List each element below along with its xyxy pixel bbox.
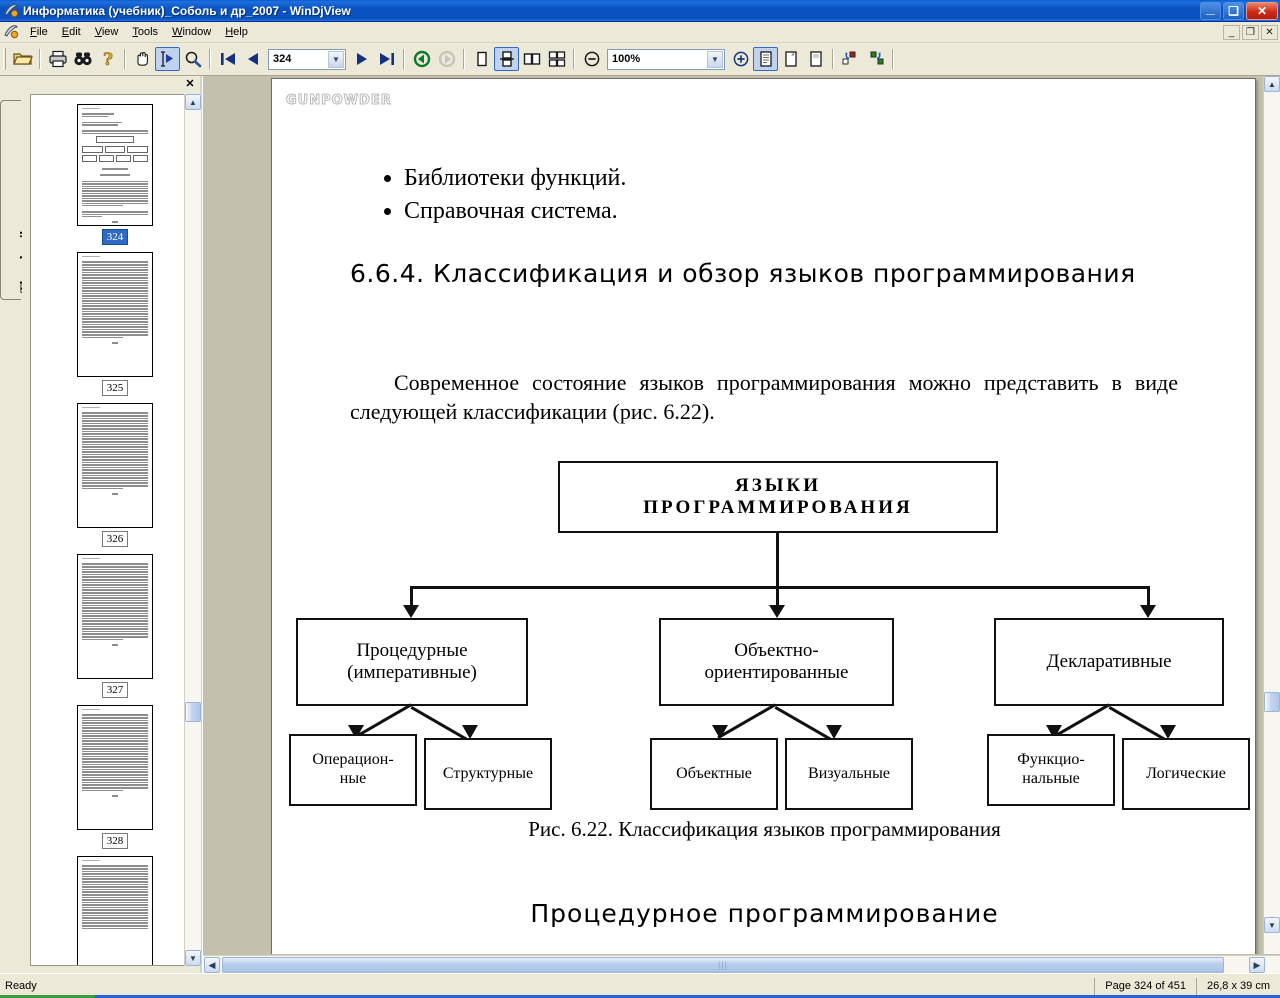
next-page-icon[interactable] [349, 47, 374, 71]
magnify-tool-icon[interactable] [180, 47, 205, 71]
toolbar-grip[interactable] [3, 48, 6, 70]
toolbar: ? 324 ▼ [0, 43, 1280, 76]
child-minimize-button[interactable]: _ [1223, 25, 1240, 40]
close-glyph: ✕ [1247, 3, 1277, 19]
figure-caption: Рис. 6.22. Классификация языков программ… [272, 817, 1257, 842]
close-icon[interactable]: ✕ [183, 78, 197, 92]
menu-item-window[interactable]: Window [165, 24, 218, 40]
minimize-glyph: _ [1201, 3, 1220, 19]
fit-page-icon[interactable] [753, 47, 778, 71]
scroll-down-icon[interactable]: ▼ [185, 950, 201, 966]
diagram-node-functional: Функцио- нальные [987, 734, 1115, 806]
diagram-node-structural: Структурные [424, 738, 552, 810]
chevron-down-icon[interactable]: ▼ [328, 51, 344, 68]
node-label-line1: Декларативные [1046, 651, 1171, 673]
diagram-node-declarative: Декларативные [994, 618, 1224, 706]
thumbnail-image[interactable] [77, 554, 153, 679]
previous-page-icon[interactable] [240, 47, 265, 71]
scroll-right-icon[interactable]: ▶ [1249, 957, 1265, 973]
rotate-right-icon[interactable] [863, 47, 888, 71]
document-horizontal-scrollbar[interactable]: ◀ ||| ▶ [203, 955, 1280, 973]
continuous-facing-icon[interactable] [544, 47, 569, 71]
page-info: Page 324 of 451 [1094, 978, 1196, 995]
node-label-line2: ные [340, 770, 366, 789]
menu-item-view[interactable]: View [88, 24, 126, 40]
find-icon[interactable] [70, 47, 95, 71]
app-icon [3, 3, 19, 19]
node-label-line1: Процедурные [356, 640, 467, 662]
arrowhead-down-center [769, 605, 785, 618]
continuous-icon[interactable] [494, 47, 519, 71]
page-number-value[interactable]: 324 [269, 53, 325, 65]
document-vertical-scrollbar[interactable]: ▲ ▼ [1263, 76, 1280, 954]
node-label-line1: Функцио- [1017, 751, 1084, 770]
thumbnail-image[interactable] [77, 104, 153, 226]
first-page-icon[interactable] [215, 47, 240, 71]
thumbnail-page-number[interactable]: 326 [102, 531, 129, 547]
node-label-line1: Объектно- [734, 640, 818, 662]
thumbnail-list[interactable]: 324 325 [30, 94, 200, 966]
zoom-level-value[interactable]: 100% [608, 53, 704, 65]
diagram-node-procedural: Процедурные (императивные) [296, 618, 528, 706]
connector-proc-to-struct [411, 706, 470, 742]
scrollbar-thumb[interactable] [1264, 692, 1280, 712]
document-viewport[interactable]: GUNPOWDER Библиотеки функций. Справочная… [205, 76, 1262, 954]
node-label-line2: ориентированные [705, 662, 849, 684]
next-section-heading: Процедурное программирование [272, 899, 1257, 928]
select-tool-icon[interactable] [155, 47, 180, 71]
document-icon [3, 24, 19, 40]
window-close-button[interactable]: ✕ [1246, 2, 1278, 20]
thumbnail-figure [82, 135, 148, 164]
thumbnail-image[interactable] [77, 705, 153, 830]
svg-text:?: ? [103, 50, 113, 68]
page-size: 26,8 x 39 cm [1196, 978, 1280, 995]
print-icon[interactable] [45, 47, 70, 71]
node-label-line1: Визуальные [808, 765, 890, 784]
back-icon[interactable] [409, 47, 434, 71]
facing-icon[interactable] [519, 47, 544, 71]
scrollbar-thumb[interactable] [185, 702, 201, 722]
menu-item-tools[interactable]: Tools [125, 24, 165, 40]
scroll-up-icon[interactable]: ▲ [185, 94, 201, 110]
node-label-line1: Структурные [443, 765, 533, 784]
list-item[interactable]: 324 [31, 97, 199, 245]
list-item[interactable]: 329 [31, 849, 199, 966]
zoom-out-icon[interactable] [579, 47, 604, 71]
rotate-left-icon[interactable] [838, 47, 863, 71]
thumbnail-page-number[interactable]: 327 [102, 682, 129, 698]
list-item[interactable]: 326 [31, 396, 199, 547]
diagram-node-logical: Логические [1122, 738, 1250, 810]
figure-classification-diagram: ЯЗЫКИ ПРОГРАММИРОВАНИЯ Процедурные (импе… [272, 461, 1257, 801]
node-label-line1: Логические [1146, 765, 1226, 784]
sidebar-tab-strip: Thumbnails [0, 76, 22, 973]
node-label-line2: (императивные) [347, 662, 477, 684]
single-page-icon[interactable] [469, 47, 494, 71]
zoom-in-icon[interactable] [728, 47, 753, 71]
list-item: Справочная система. [404, 196, 1082, 227]
thumbnail-page-number[interactable]: 324 [102, 229, 129, 245]
maximize-glyph: ❑ [1224, 3, 1243, 19]
connector-bus-horizontal [410, 586, 1150, 589]
about-icon[interactable]: ? [95, 47, 120, 71]
diagram-node-operational: Операцион- ные [289, 734, 417, 806]
child-restore-button[interactable]: ❐ [1242, 25, 1259, 40]
body-paragraph: Современное состояние языков программиро… [350, 369, 1178, 426]
actual-size-icon[interactable] [803, 47, 828, 71]
thumbnail-panel: ✕ [22, 76, 200, 973]
page-number-combo[interactable]: 324 ▼ [268, 49, 346, 70]
window-title: Информатика (учебник)_Соболь и др_2007 -… [23, 4, 351, 18]
list-item: Библиотеки функций. [404, 163, 1082, 194]
arrowhead-logic [1160, 725, 1176, 739]
window-minimize-button[interactable]: _ [1200, 2, 1221, 20]
scroll-down-icon[interactable]: ▼ [1264, 917, 1280, 933]
node-label-line1: Объектные [676, 765, 752, 784]
open-icon[interactable] [10, 47, 35, 71]
diagram-node-visual: Визуальные [785, 738, 913, 810]
menu-item-file[interactable]: File [23, 24, 55, 40]
scroll-up-icon[interactable]: ▲ [1264, 76, 1280, 92]
zoom-level-combo[interactable]: 100% ▼ [607, 49, 725, 70]
list-item[interactable]: 328 [31, 698, 199, 849]
thumbnail-page-number[interactable]: 325 [102, 380, 129, 396]
watermark: GUNPOWDER [286, 93, 392, 108]
last-page-icon[interactable] [374, 47, 399, 71]
thumbnail-scrollbar[interactable]: ▲ ▼ [184, 94, 200, 966]
node-label-line2: ПРОГРАММИРОВАНИЯ [643, 497, 912, 519]
thumbnail-image[interactable] [77, 252, 153, 377]
bullet-list: Библиотеки функций. Справочная система. [382, 163, 1082, 229]
child-close-button[interactable]: ✕ [1261, 25, 1278, 40]
connector-oop-to-vis [775, 706, 834, 742]
connector-root-stem [776, 533, 779, 588]
diagram-node-root: ЯЗЫКИ ПРОГРАММИРОВАНИЯ [558, 461, 998, 533]
title-bar: Информатика (учебник)_Соболь и др_2007 -… [0, 0, 1280, 22]
diagram-node-object: Объектные [650, 738, 778, 810]
connector-decl-to-logic [1109, 706, 1168, 742]
thumbnail-image[interactable] [77, 403, 153, 528]
status-text: Ready [0, 980, 1094, 992]
diagram-node-object-oriented: Объектно- ориентированные [659, 618, 894, 706]
list-item[interactable]: 327 [31, 547, 199, 698]
hand-tool-icon[interactable] [130, 47, 155, 71]
section-heading: 6.6.4. Классификация и обзор языков прог… [350, 257, 1170, 291]
scrollbar-trough[interactable] [185, 94, 201, 966]
thumbnail-page-number[interactable]: 328 [102, 833, 129, 849]
menu-item-edit[interactable]: Edit [55, 24, 88, 40]
menu-bar: File Edit View Tools Window Help _ ❐ ✕ [0, 22, 1280, 43]
thumbnail-image[interactable] [77, 856, 153, 966]
node-label-line1: Операцион- [312, 751, 393, 770]
arrowhead-struct [462, 725, 478, 739]
window-maximize-button[interactable]: ❑ [1223, 2, 1244, 20]
scrollbar-grip: ||| [718, 960, 728, 970]
chevron-down-icon[interactable]: ▼ [707, 51, 723, 68]
document-area: GUNPOWDER Библиотеки функций. Справочная… [202, 76, 1280, 973]
arrowhead-down-left [403, 605, 419, 618]
scrollbar-thumb[interactable]: ||| [222, 957, 1224, 973]
menu-item-help[interactable]: Help [218, 24, 255, 40]
arrowhead-obj [712, 725, 728, 739]
arrowhead-down-right [1140, 605, 1156, 618]
document-page: GUNPOWDER Библиотеки функций. Справочная… [271, 78, 1256, 954]
list-item[interactable]: 325 [31, 245, 199, 396]
forward-icon[interactable] [434, 47, 459, 71]
arrowhead-vis [826, 725, 842, 739]
tab-thumbnails[interactable]: Thumbnails [0, 100, 21, 300]
node-label-line1: ЯЗЫКИ [735, 475, 821, 497]
fit-width-icon[interactable] [778, 47, 803, 71]
scroll-left-icon[interactable]: ◀ [204, 957, 220, 973]
node-label-line2: нальные [1022, 770, 1080, 789]
